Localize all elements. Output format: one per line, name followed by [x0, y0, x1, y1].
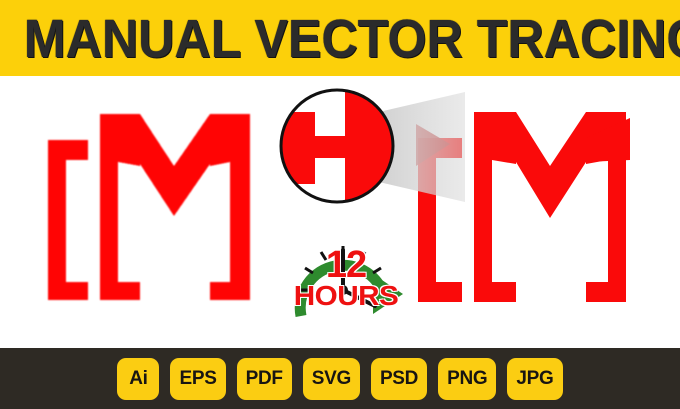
- file-format-list: AiEPSPDFSVGPSDPNGJPG: [0, 348, 680, 409]
- format-badge-png[interactable]: PNG: [438, 358, 496, 400]
- header-banner: MANUAL VECTOR TRACING: [0, 0, 680, 76]
- pixelated-raster-logo: [44, 104, 264, 314]
- format-badge-svg[interactable]: SVG: [303, 358, 360, 400]
- footer-bar: AiEPSPDFSVGPSDPNGJPG: [0, 348, 680, 409]
- format-badge-ai[interactable]: Ai: [117, 358, 159, 400]
- format-badge-eps[interactable]: EPS: [170, 358, 225, 400]
- page-title: MANUAL VECTOR TRACING: [24, 10, 656, 68]
- format-badge-psd[interactable]: PSD: [371, 358, 427, 400]
- main-showcase-area: 12 HOURS: [0, 76, 680, 348]
- format-badge-pdf[interactable]: PDF: [237, 358, 292, 400]
- delivery-time-badge: 12 HOURS: [281, 230, 411, 330]
- magnifying-lens: [275, 84, 465, 219]
- promo-graphic-canvas: MANUAL VECTOR TRACING: [0, 0, 680, 409]
- format-badge-jpg[interactable]: JPG: [507, 358, 562, 400]
